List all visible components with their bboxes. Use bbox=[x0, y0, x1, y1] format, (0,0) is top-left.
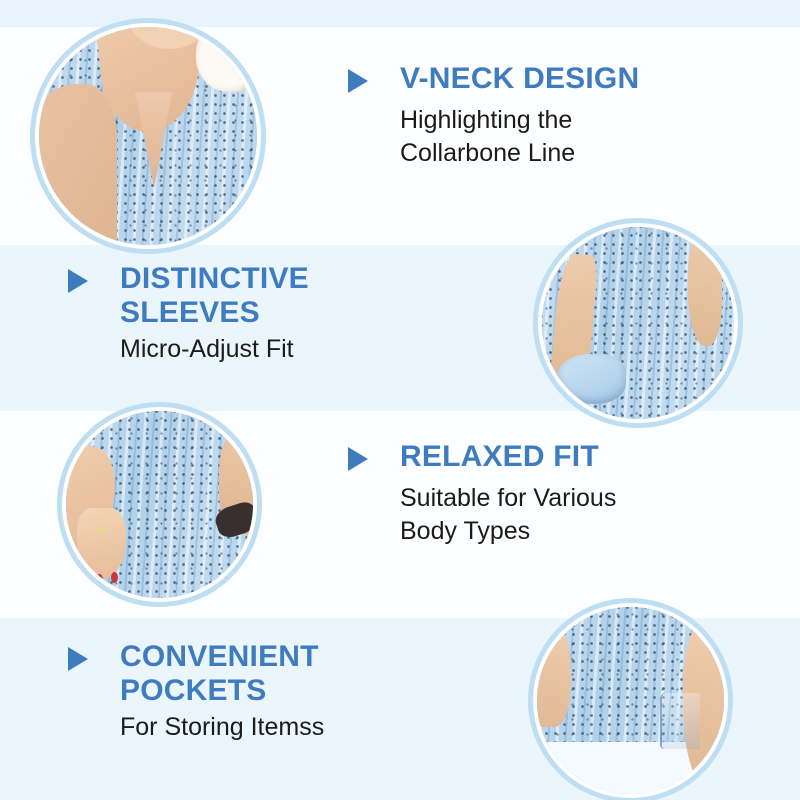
feature-text-pockets: CONVENIENT POCKETS For Storing Itemss bbox=[120, 640, 324, 745]
arm-shape-right bbox=[688, 239, 723, 347]
photo-inner-vneck bbox=[39, 27, 257, 245]
feature-block-vneck: V-NECK DESIGN Highlighting the Collarbon… bbox=[348, 62, 639, 171]
feature-text-vneck: V-NECK DESIGN Highlighting the Collarbon… bbox=[400, 62, 639, 171]
photo-inner-pockets bbox=[537, 607, 724, 794]
photo-inner-relaxed bbox=[66, 411, 253, 598]
feature-subtitle: Micro-Adjust Fit bbox=[120, 333, 309, 367]
feature-title: V-NECK DESIGN bbox=[400, 62, 639, 96]
triangle-right-icon bbox=[348, 69, 368, 93]
triangle-right-icon bbox=[68, 647, 88, 671]
finger-ring bbox=[96, 527, 109, 533]
sleeve-tie-knot bbox=[557, 354, 626, 404]
pocket-opening bbox=[660, 693, 699, 749]
feature-block-sleeves: DISTINCTIVE SLEEVES Micro-Adjust Fit bbox=[68, 262, 309, 367]
feature-title: DISTINCTIVE SLEEVES bbox=[120, 262, 309, 329]
feature-subtitle: Suitable for Various Body Types bbox=[400, 482, 616, 550]
feature-subtitle: Highlighting the Collarbone Line bbox=[400, 104, 639, 172]
relaxed-fit-photo bbox=[57, 402, 262, 607]
side-pocket-photo bbox=[528, 598, 733, 800]
product-feature-infographic: V-NECK DESIGN Highlighting the Collarbon… bbox=[0, 0, 800, 800]
fingernail bbox=[81, 568, 88, 579]
triangle-right-icon bbox=[348, 447, 368, 471]
feature-block-pockets: CONVENIENT POCKETS For Storing Itemss bbox=[68, 640, 324, 745]
v-neck-collarbone-photo bbox=[30, 18, 266, 254]
sleeve-detail-photo bbox=[533, 218, 743, 428]
photo-inner-sleeve bbox=[542, 227, 734, 419]
feature-subtitle: For Storing Itemss bbox=[120, 711, 324, 745]
fingernail bbox=[96, 574, 103, 585]
shoulder-shape bbox=[39, 84, 117, 245]
fingernail bbox=[111, 572, 118, 583]
feature-title: CONVENIENT POCKETS bbox=[120, 640, 324, 707]
feature-block-relaxed: RELAXED FIT Suitable for Various Body Ty… bbox=[348, 440, 616, 549]
feature-text-sleeves: DISTINCTIVE SLEEVES Micro-Adjust Fit bbox=[120, 262, 309, 367]
feature-text-relaxed: RELAXED FIT Suitable for Various Body Ty… bbox=[400, 440, 616, 549]
feature-title: RELAXED FIT bbox=[400, 440, 616, 474]
triangle-right-icon bbox=[68, 269, 88, 293]
